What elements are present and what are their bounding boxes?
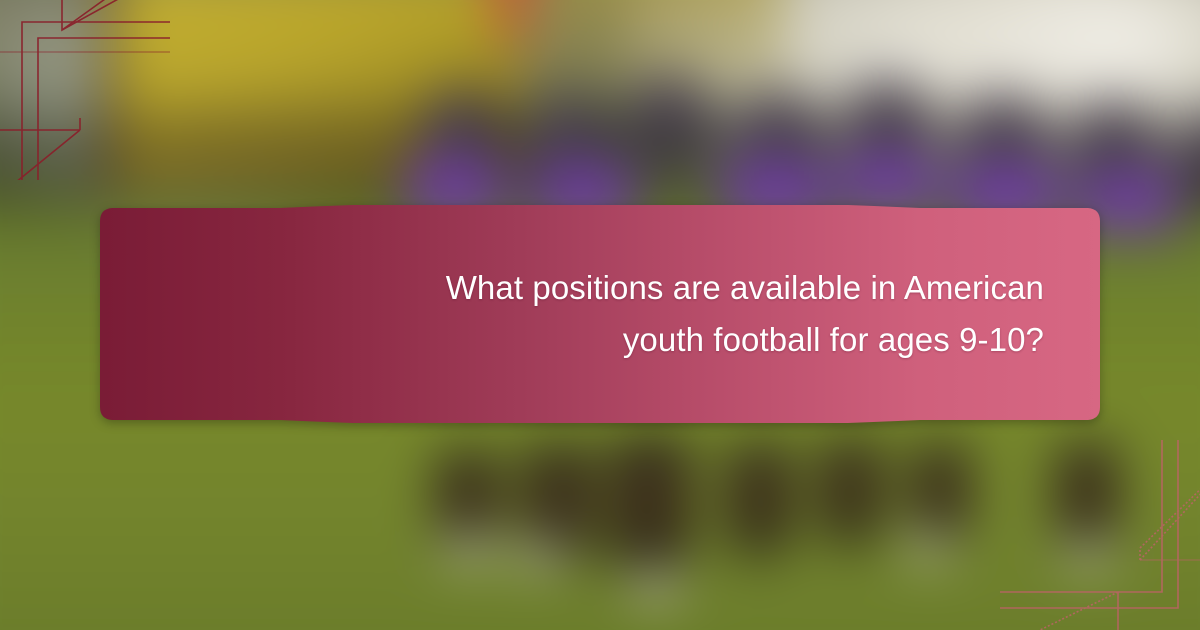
background-red-marker — [497, 0, 529, 60]
graphic-canvas: What positions are available in American… — [0, 0, 1200, 630]
player-leg — [725, 443, 794, 563]
player-shoe — [1062, 540, 1115, 571]
player-shoe — [904, 533, 954, 564]
player-helmet — [626, 75, 710, 165]
headline-banner: What positions are available in American… — [100, 205, 1100, 423]
headline-text: What positions are available in American… — [148, 262, 1044, 366]
player-leg — [818, 439, 884, 552]
player-leg — [1055, 443, 1118, 556]
player-leg — [607, 435, 694, 585]
player-leg — [910, 443, 971, 548]
player-shoe — [442, 533, 497, 568]
player-shoe — [626, 570, 684, 603]
player-shoe — [514, 540, 567, 573]
